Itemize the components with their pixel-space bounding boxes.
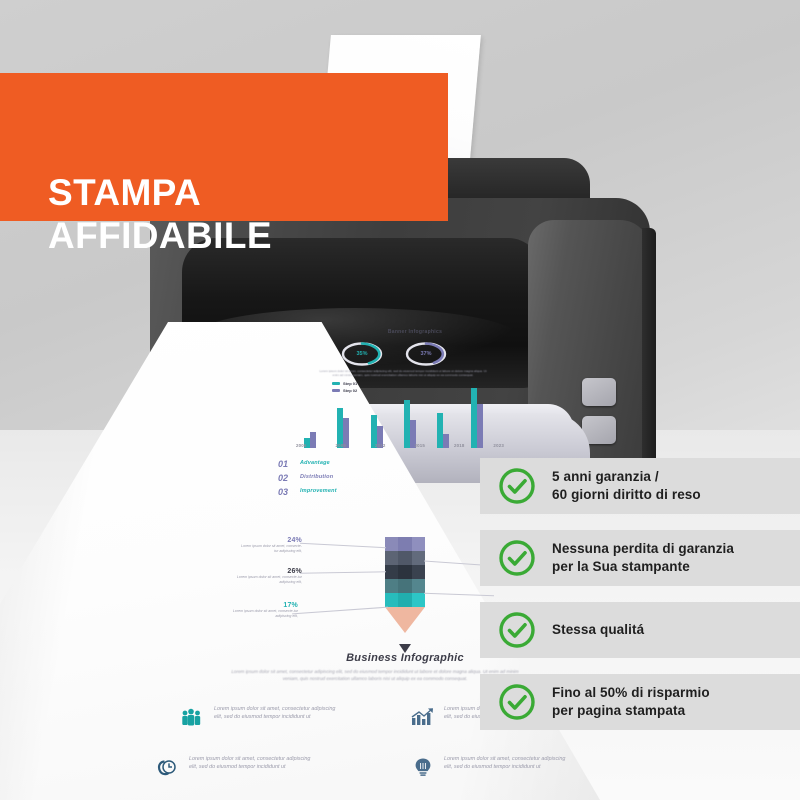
- benefit-text: Stessa qualitá: [552, 621, 644, 639]
- benefit-line-2: per la Sua stampante: [552, 558, 734, 576]
- benefits-list: 5 anni garanzia / 60 giorni diritto di r…: [480, 458, 800, 746]
- benefit-text: Nessuna perdita di garanzia per la Sua s…: [552, 540, 734, 575]
- benefit-line-1: Fino al 50% di risparmio: [552, 684, 710, 702]
- headline-line-1: STAMPA: [48, 171, 448, 214]
- headline-banner: STAMPA AFFIDABILE: [0, 73, 448, 221]
- printer-right-edge: [642, 228, 656, 478]
- benefit-text: Fino al 50% di risparmio per pagina stam…: [552, 684, 710, 719]
- benefit-line-2: per pagina stampata: [552, 702, 710, 720]
- check-circle-icon: [498, 683, 536, 721]
- benefit-card[interactable]: Nessuna perdita di garanzia per la Sua s…: [480, 530, 800, 586]
- benefit-line-2: 60 giorni diritto di reso: [552, 486, 701, 504]
- benefit-text: 5 anni garanzia / 60 giorni diritto di r…: [552, 468, 701, 503]
- check-circle-icon: [498, 467, 536, 505]
- headline-line-2: AFFIDABILE: [48, 214, 448, 257]
- benefit-card[interactable]: 5 anni garanzia / 60 giorni diritto di r…: [480, 458, 800, 514]
- benefit-line-1: Nessuna perdita di garanzia: [552, 540, 734, 558]
- printer-control-button-1[interactable]: [582, 378, 616, 406]
- benefit-card[interactable]: Fino al 50% di risparmio per pagina stam…: [480, 674, 800, 730]
- poster-canvas: Banner Infographics 35% 37% Lorem ipsum …: [0, 0, 800, 800]
- benefit-card[interactable]: Stessa qualitá: [480, 602, 800, 658]
- benefit-line-1: Stessa qualitá: [552, 621, 644, 639]
- check-circle-icon: [498, 611, 536, 649]
- benefit-line-1: 5 anni garanzia /: [552, 468, 701, 486]
- check-circle-icon: [498, 539, 536, 577]
- headline-text: STAMPA AFFIDABILE: [48, 171, 448, 258]
